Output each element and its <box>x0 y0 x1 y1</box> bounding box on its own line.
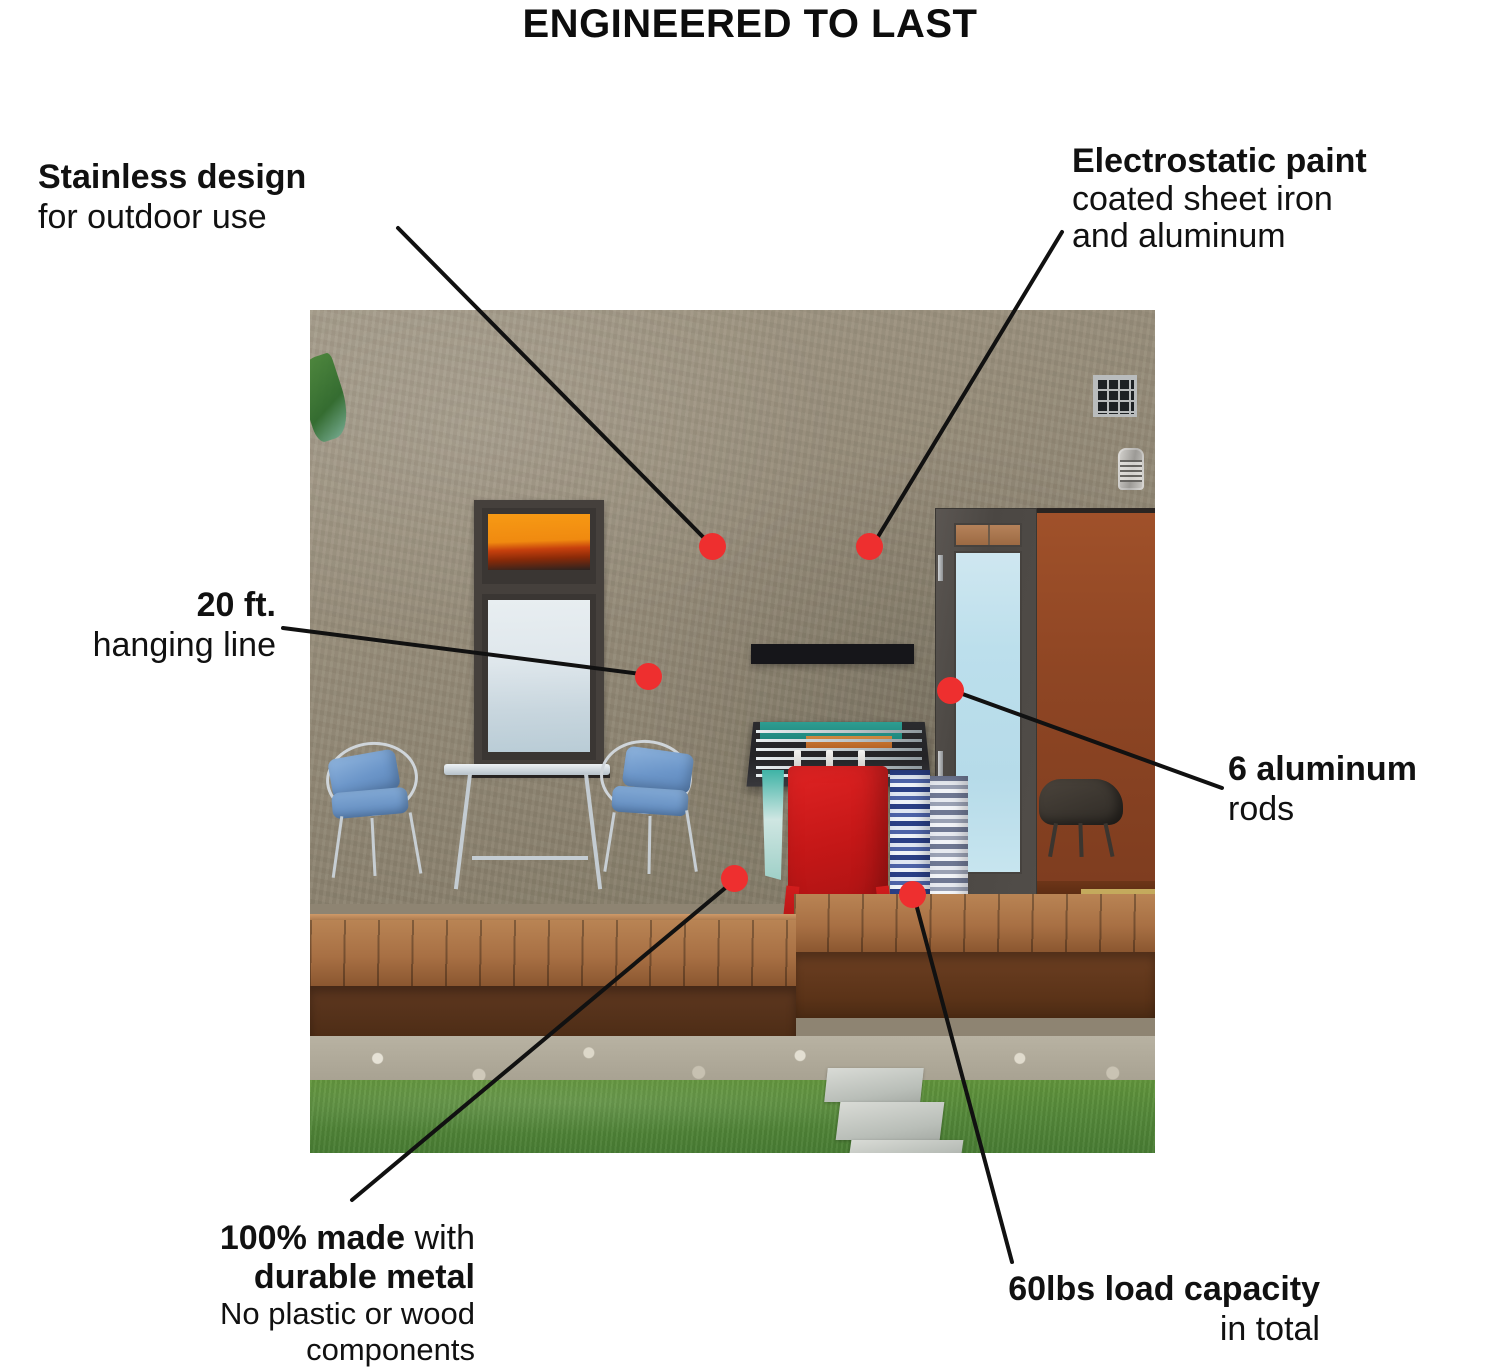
table-rail <box>472 856 588 860</box>
table-leg <box>454 774 472 890</box>
door-hinge <box>938 555 943 581</box>
callout-line: components <box>60 1334 475 1367</box>
callout-load-capacity: 60lbs load capacity in total <box>820 1272 1320 1347</box>
interior-chair-seat <box>1039 779 1123 825</box>
stone-paver <box>824 1068 924 1102</box>
hotspot-dot-durable[interactable] <box>721 865 748 892</box>
hotspot-dot-stainless[interactable] <box>699 533 726 560</box>
hotspot-dot-load[interactable] <box>899 881 926 908</box>
callout-line: for outdoor use <box>38 200 306 236</box>
callout-line: Stainless design <box>38 160 306 196</box>
door-hinge <box>938 751 943 777</box>
callout-line-regular: with <box>405 1219 475 1257</box>
callout-hanging-line: 20 ft. hanging line <box>0 588 276 663</box>
upper-deck <box>794 894 1155 952</box>
wall-mounted-bar <box>751 644 914 664</box>
interior-chair-leg <box>1078 823 1083 857</box>
callout-line: rods <box>1228 792 1417 828</box>
stone-paver <box>849 1140 964 1153</box>
callout-line: 20 ft. <box>0 588 276 624</box>
teal-towel <box>762 770 784 880</box>
callout-line: durable metal <box>60 1260 475 1296</box>
callout-line: No plastic or wood <box>60 1298 475 1331</box>
callout-durable-metal: 100% made with durable metal No plastic … <box>60 1218 475 1366</box>
callout-line: 60lbs load capacity <box>820 1272 1320 1308</box>
chair-seat-cushion <box>331 787 409 820</box>
chair-leg <box>332 816 344 878</box>
callout-stainless-design: Stainless design for outdoor use <box>38 160 306 235</box>
chair-leg <box>647 816 651 874</box>
chair-leg <box>409 812 423 874</box>
interior-chair-leg <box>1104 823 1115 857</box>
callout-line-bold: 100% made <box>220 1219 405 1257</box>
callout-line: and aluminum <box>1072 219 1367 255</box>
hotspot-dot-electro[interactable] <box>856 533 883 560</box>
callout-line: hanging line <box>0 628 276 664</box>
upper-deck-riser <box>794 952 1155 1018</box>
window <box>474 500 604 768</box>
callout-line: 100% made with <box>60 1221 475 1257</box>
lower-deck <box>310 920 796 986</box>
callout-electrostatic-paint: Electrostatic paint coated sheet iron an… <box>1072 142 1367 255</box>
window-lower-pane <box>488 600 590 752</box>
aluminum-rod <box>756 730 922 733</box>
chair-leg <box>685 810 698 872</box>
chair-leg <box>603 812 615 872</box>
patio-chair-left <box>318 740 436 880</box>
page-title: ENGINEERED TO LAST <box>0 0 1500 48</box>
chair-leg <box>370 818 376 876</box>
door-transom <box>954 523 1022 547</box>
hotspot-dot-hanging[interactable] <box>635 663 662 690</box>
callout-line: Electrostatic paint <box>1072 144 1367 180</box>
patio-chair-right <box>586 738 712 880</box>
window-upper-pane <box>488 514 590 570</box>
interior-chair-leg <box>1048 823 1058 857</box>
solar-panel-icon <box>1093 375 1137 417</box>
interior-chair <box>1039 779 1123 857</box>
callout-line: 6 aluminum <box>1228 752 1417 788</box>
window-mullion <box>474 584 604 594</box>
lawn <box>310 1080 1155 1153</box>
callout-line: coated sheet iron <box>1072 182 1367 218</box>
chair-seat-cushion <box>611 785 689 816</box>
hotspot-dot-rods[interactable] <box>937 677 964 704</box>
product-scene-photo <box>310 310 1155 1153</box>
wall-lamp-icon <box>1118 448 1144 490</box>
aluminum-rod <box>756 739 922 742</box>
callout-line: in total <box>820 1312 1320 1348</box>
stone-paver <box>836 1102 945 1140</box>
callout-aluminum-rods: 6 aluminum rods <box>1228 752 1417 827</box>
